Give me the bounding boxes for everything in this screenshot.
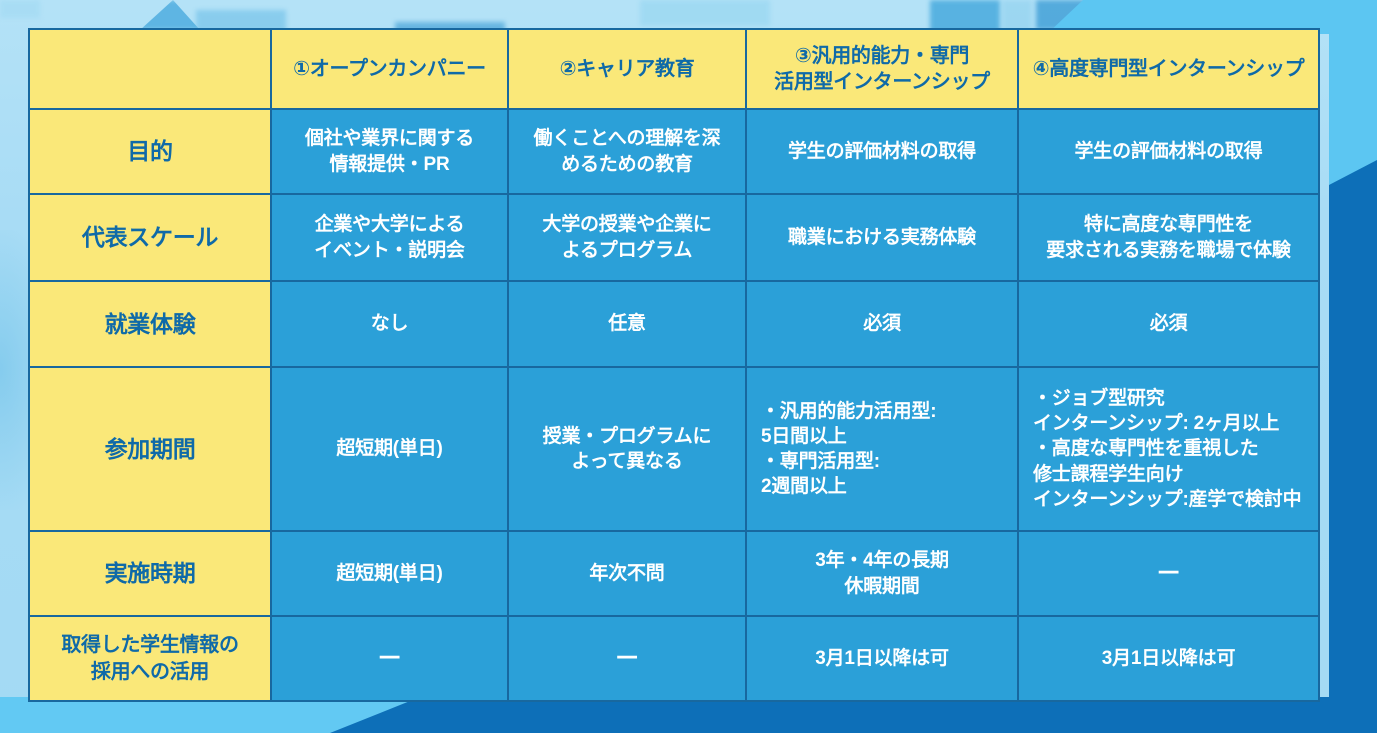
text-line: 必須 xyxy=(1027,311,1310,336)
cell-recruiting-use-general-specialized: 3月1日以降は可 xyxy=(746,616,1018,701)
cell-period-advanced-specialized: ・ジョブ型研究インターンシップ: 2ヶ月以上・高度な専門性を重視した修士課程学生… xyxy=(1018,367,1319,531)
cell-recruiting-use-open-company: － xyxy=(271,616,508,701)
table-row: 代表スケール 企業や大学によるイベント・説明会 大学の授業や企業によるプログラム… xyxy=(29,194,1319,281)
text-line: － xyxy=(1027,556,1310,590)
row-header-work-experience: 就業体験 xyxy=(29,281,271,367)
text-line: 特に高度な専門性を xyxy=(1027,212,1310,237)
text-line: ④高度専門型インターンシップ xyxy=(1027,56,1310,82)
comparison-table-container: ①オープンカンパニー ②キャリア教育 ③汎用的能力・専門活用型インターンシップ … xyxy=(28,28,1318,700)
text-line: 5日間以上 xyxy=(761,424,1009,449)
text-line: 情報提供・PR xyxy=(280,152,499,177)
cell-work-experience-career-education: 任意 xyxy=(508,281,746,367)
text-line: 企業や大学による xyxy=(280,212,499,237)
text-line: 活用型インターンシップ xyxy=(755,69,1009,95)
table-row: 就業体験 なし 任意 必須 必須 xyxy=(29,281,1319,367)
column-header-advanced-specialized-internship: ④高度専門型インターンシップ xyxy=(1018,29,1319,109)
text-line: ②キャリア教育 xyxy=(517,56,737,82)
text-line: 任意 xyxy=(517,311,737,336)
text-line: 超短期(単日) xyxy=(280,436,499,461)
row-header-student-info-recruiting-use: 取得した学生情報の採用への活用 xyxy=(29,616,271,701)
text-line: インターンシップ: 2ヶ月以上 xyxy=(1033,411,1310,436)
text-line: ・高度な専門性を重視した xyxy=(1033,436,1310,461)
cell-recruiting-use-career-education: － xyxy=(508,616,746,701)
text-line: ③汎用的能力・専門 xyxy=(755,43,1009,69)
cell-scale-advanced-specialized: 特に高度な専門性を要求される実務を職場で体験 xyxy=(1018,194,1319,281)
text-line: 取得した学生情報の xyxy=(38,632,262,658)
text-line: 授業・プログラムに xyxy=(517,424,737,449)
text-line: ・汎用的能力活用型: xyxy=(761,399,1009,424)
text-line: 学生の評価材料の取得 xyxy=(1027,139,1310,164)
text-line: インターンシップ:産学で検討中 xyxy=(1033,487,1310,512)
text-line: 個社や業界に関する xyxy=(280,126,499,151)
cell-timing-advanced-specialized: － xyxy=(1018,531,1319,616)
table-row: 実施時期 超短期(単日) 年次不問 3年・4年の長期休暇期間 － xyxy=(29,531,1319,616)
row-header-implementation-timing: 実施時期 xyxy=(29,531,271,616)
text-line: よって異なる xyxy=(517,449,737,474)
cell-work-experience-advanced-specialized: 必須 xyxy=(1018,281,1319,367)
text-line: イベント・説明会 xyxy=(280,238,499,263)
text-line: － xyxy=(517,641,737,675)
cell-work-experience-open-company: なし xyxy=(271,281,508,367)
comparison-table: ①オープンカンパニー ②キャリア教育 ③汎用的能力・専門活用型インターンシップ … xyxy=(28,28,1320,702)
table-row: 参加期間 超短期(単日) 授業・プログラムによって異なる ・汎用的能力活用型:5… xyxy=(29,367,1319,531)
skyline-silhouette xyxy=(0,0,40,18)
cell-purpose-career-education: 働くことへの理解を深めるための教育 xyxy=(508,109,746,194)
cell-scale-career-education: 大学の授業や企業によるプログラム xyxy=(508,194,746,281)
text-line: 3月1日以降は可 xyxy=(1027,646,1310,671)
skyline-silhouette xyxy=(140,0,200,30)
cell-scale-general-specialized: 職業における実務体験 xyxy=(746,194,1018,281)
text-line: ・専門活用型: xyxy=(761,449,1009,474)
text-line: ①オープンカンパニー xyxy=(280,56,499,82)
text-line: ・ジョブ型研究 xyxy=(1033,386,1310,411)
skyline-silhouette xyxy=(640,0,770,26)
cell-period-open-company: 超短期(単日) xyxy=(271,367,508,531)
text-line: － xyxy=(280,641,499,675)
row-header-purpose: 目的 xyxy=(29,109,271,194)
text-line: 超短期(単日) xyxy=(280,561,499,586)
cell-purpose-general-specialized: 学生の評価材料の取得 xyxy=(746,109,1018,194)
text-line: 修士課程学生向け xyxy=(1033,462,1310,487)
text-line: 2週間以上 xyxy=(761,474,1009,499)
column-header-career-education: ②キャリア教育 xyxy=(508,29,746,109)
table-header-row: ①オープンカンパニー ②キャリア教育 ③汎用的能力・専門活用型インターンシップ … xyxy=(29,29,1319,109)
cell-timing-open-company: 超短期(単日) xyxy=(271,531,508,616)
cell-purpose-advanced-specialized: 学生の評価材料の取得 xyxy=(1018,109,1319,194)
row-header-participation-period: 参加期間 xyxy=(29,367,271,531)
text-line: 採用への活用 xyxy=(38,659,262,685)
cell-work-experience-general-specialized: 必須 xyxy=(746,281,1018,367)
cell-purpose-open-company: 個社や業界に関する情報提供・PR xyxy=(271,109,508,194)
column-header-open-company: ①オープンカンパニー xyxy=(271,29,508,109)
cell-scale-open-company: 企業や大学によるイベント・説明会 xyxy=(271,194,508,281)
cell-recruiting-use-advanced-specialized: 3月1日以降は可 xyxy=(1018,616,1319,701)
text-line: 働くことへの理解を深 xyxy=(517,126,737,151)
cell-period-general-specialized: ・汎用的能力活用型:5日間以上・専門活用型:2週間以上 xyxy=(746,367,1018,531)
text-line: 学生の評価材料の取得 xyxy=(755,139,1009,164)
text-line: 職業における実務体験 xyxy=(755,225,1009,250)
text-line: 3月1日以降は可 xyxy=(755,646,1009,671)
text-line: 休暇期間 xyxy=(755,574,1009,599)
text-line: 大学の授業や企業に xyxy=(517,212,737,237)
cell-timing-general-specialized: 3年・4年の長期休暇期間 xyxy=(746,531,1018,616)
row-header-representative-scale: 代表スケール xyxy=(29,194,271,281)
text-line: なし xyxy=(280,311,499,336)
table-row: 目的 個社や業界に関する情報提供・PR 働くことへの理解を深めるための教育 学生… xyxy=(29,109,1319,194)
text-line: 3年・4年の長期 xyxy=(755,548,1009,573)
text-line: 必須 xyxy=(755,311,1009,336)
cell-timing-career-education: 年次不問 xyxy=(508,531,746,616)
table-row: 取得した学生情報の採用への活用 － － 3月1日以降は可 3月1日以降は可 xyxy=(29,616,1319,701)
column-header-general-specialized-internship: ③汎用的能力・専門活用型インターンシップ xyxy=(746,29,1018,109)
text-line: 要求される実務を職場で体験 xyxy=(1027,238,1310,263)
cell-period-career-education: 授業・プログラムによって異なる xyxy=(508,367,746,531)
text-line: 年次不問 xyxy=(517,561,737,586)
text-line: めるための教育 xyxy=(517,152,737,177)
table-body: 目的 個社や業界に関する情報提供・PR 働くことへの理解を深めるための教育 学生… xyxy=(29,109,1319,701)
table-corner-cell xyxy=(29,29,271,109)
text-line: よるプログラム xyxy=(517,238,737,263)
